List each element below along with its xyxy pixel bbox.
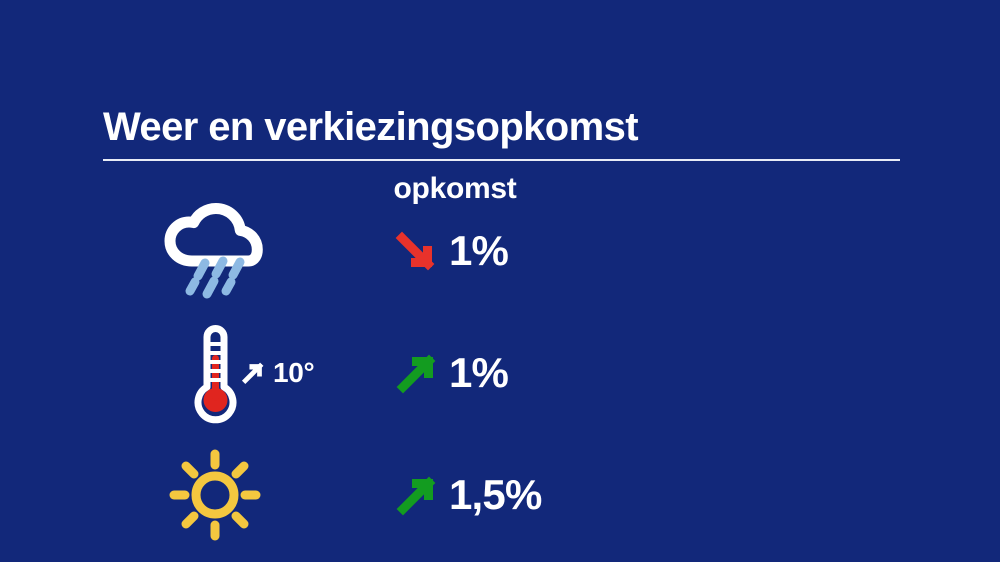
table-row: 10° 1% [0,318,1000,428]
turnout-cell: 1% [395,318,508,428]
table-row: 1% [0,196,1000,306]
turnout-cell: 1% [395,196,508,306]
title-block: Weer en verkiezingsopkomst [103,104,900,161]
arrow-up-right-icon [395,351,439,395]
turnout-cell: 1,5% [395,440,542,550]
arrow-up-right-icon [395,473,439,517]
rows-container: 1% [0,196,1000,526]
table-row: 1,5% [0,440,1000,550]
sun-icon [150,440,280,550]
arrow-up-right-icon [240,360,266,386]
title-divider [103,159,900,161]
weather-turnout-infographic: Weer en verkiezingsopkomst opkomst [0,0,1000,562]
page-title: Weer en verkiezingsopkomst [103,104,900,150]
temperature-label: 10° [273,357,314,389]
temperature-cell: 10° [240,318,314,428]
turnout-value: 1% [449,227,508,275]
turnout-value: 1% [449,349,508,397]
arrow-down-right-icon [395,229,439,273]
rain-cloud-icon [150,196,280,306]
turnout-value: 1,5% [449,471,542,519]
